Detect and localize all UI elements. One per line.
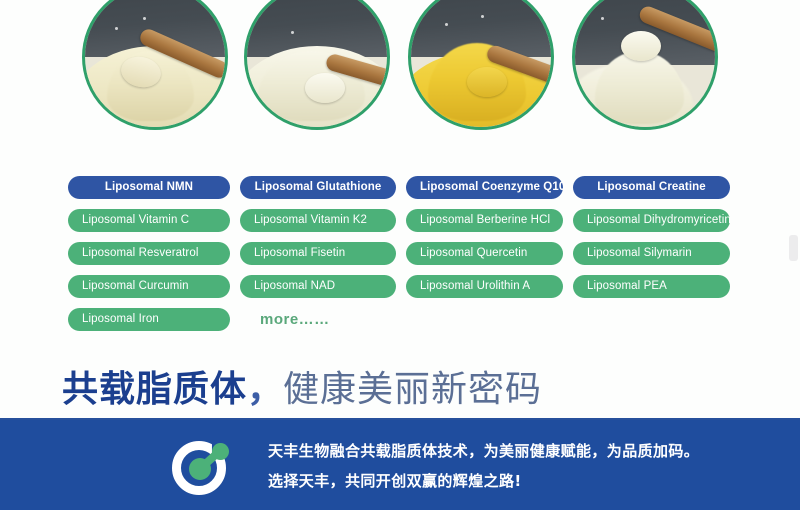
tag-liposomal-resveratrol[interactable]: Liposomal Resveratrol — [68, 242, 230, 265]
tag-liposomal-berberine-hcl[interactable]: Liposomal Berberine HCl — [406, 209, 563, 232]
bottom-banner: 天丰生物融合共载脂质体技术，为美丽健康赋能，为品质加码。 选择天丰，共同开创双赢… — [0, 420, 800, 510]
tag-row: Liposomal NMN Liposomal Glutathione Lipo… — [68, 176, 732, 199]
powder-speck — [143, 17, 146, 20]
product-image-4[interactable] — [572, 0, 718, 130]
product-tag-list: Liposomal NMN Liposomal Glutathione Lipo… — [68, 176, 732, 341]
powder-speck — [445, 23, 448, 26]
product-image-3[interactable] — [408, 0, 554, 130]
headline-primary: 共载脂质体 — [62, 369, 247, 410]
tag-liposomal-vitamin-k2[interactable]: Liposomal Vitamin K2 — [240, 209, 396, 232]
powder-speck — [115, 27, 118, 30]
tag-row: Liposomal Vitamin C Liposomal Vitamin K2… — [68, 209, 732, 232]
tag-liposomal-pea[interactable]: Liposomal PEA — [573, 275, 730, 298]
wooden-spoon-bowl — [305, 73, 345, 103]
tag-liposomal-iron[interactable]: Liposomal Iron — [68, 308, 230, 331]
tag-liposomal-nmn[interactable]: Liposomal NMN — [68, 176, 230, 199]
promo-page: Liposomal NMN Liposomal Glutathione Lipo… — [0, 0, 800, 510]
tag-liposomal-vitamin-c[interactable]: Liposomal Vitamin C — [68, 209, 230, 232]
tag-liposomal-silymarin[interactable]: Liposomal Silymarin — [573, 242, 730, 265]
tag-liposomal-nad[interactable]: Liposomal NAD — [240, 275, 396, 298]
tag-liposomal-dihydromyricetin[interactable]: Liposomal Dihydromyricetin — [573, 209, 730, 232]
tianfeng-bio-logo-icon — [172, 438, 238, 498]
tag-row: Liposomal Iron more…… — [68, 308, 732, 331]
scrollbar-thumb[interactable] — [789, 235, 798, 261]
tag-row: Liposomal Resveratrol Liposomal Fisetin … — [68, 242, 732, 265]
tag-liposomal-creatine[interactable]: Liposomal Creatine — [573, 176, 730, 199]
logo-dot-small — [212, 443, 229, 460]
banner-line-1: 天丰生物融合共载脂质体技术，为美丽健康赋能，为品质加码。 — [268, 436, 699, 466]
tag-liposomal-urolithin-a[interactable]: Liposomal Urolithin A — [406, 275, 563, 298]
powder-speck — [291, 31, 294, 34]
headline-secondary: 健康美丽新密码 — [283, 369, 542, 410]
tag-row: Liposomal Curcumin Liposomal NAD Liposom… — [68, 275, 732, 298]
tag-liposomal-coenzyme-q10[interactable]: Liposomal Coenzyme Q10 — [406, 176, 563, 199]
logo-dot-large — [189, 458, 211, 480]
powder-speck — [601, 17, 604, 20]
headline-comma: ， — [247, 369, 283, 410]
tag-liposomal-fisetin[interactable]: Liposomal Fisetin — [240, 242, 396, 265]
tag-liposomal-glutathione[interactable]: Liposomal Glutathione — [240, 176, 396, 199]
product-image-1[interactable] — [82, 0, 228, 130]
tag-liposomal-quercetin[interactable]: Liposomal Quercetin — [406, 242, 563, 265]
banner-copy: 天丰生物融合共载脂质体技术，为美丽健康赋能，为品质加码。 选择天丰，共同开创双赢… — [268, 436, 699, 496]
product-gallery — [0, 0, 800, 156]
product-image-2[interactable] — [244, 0, 390, 130]
wooden-spoon-bowl — [467, 67, 507, 97]
powder-speck — [481, 15, 484, 18]
tag-liposomal-curcumin[interactable]: Liposomal Curcumin — [68, 275, 230, 298]
banner-line-2: 选择天丰，共同开创双赢的辉煌之路! — [268, 466, 699, 496]
more-link[interactable]: more…… — [260, 308, 330, 331]
page-headline: 共载脂质体，健康美丽新密码 — [62, 368, 542, 412]
wooden-spoon-bowl — [621, 31, 661, 61]
